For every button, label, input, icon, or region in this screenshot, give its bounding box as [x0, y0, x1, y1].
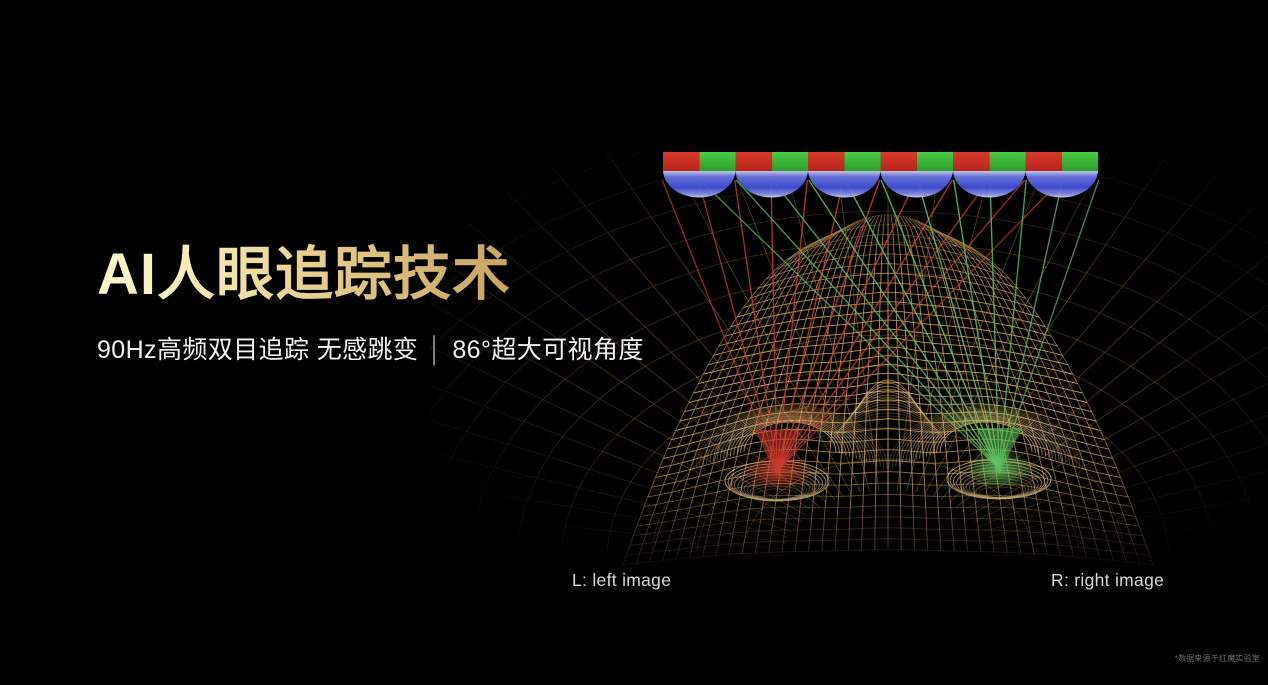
- legend-right-image: R: right image: [1051, 570, 1164, 591]
- subtitle-spec-refresh: 90Hz高频双目追踪 无感跳变: [97, 336, 418, 364]
- page-title: AI人眼追踪技术: [97, 243, 637, 308]
- subtitle-spec-angle: 86°超大可视角度: [452, 336, 643, 364]
- legend-left-image: L: left image: [572, 570, 671, 591]
- headline-block: AI人眼追踪技术 90Hz高频双目追踪 无感跳变│86°超大可视角度: [97, 243, 637, 366]
- footnote-disclaimer: *数据来源于红魔实验室: [1175, 653, 1260, 664]
- page-subtitle: 90Hz高频双目追踪 无感跳变│86°超大可视角度: [97, 308, 637, 366]
- subtitle-separator: │: [418, 336, 452, 364]
- slide-canvas: AI人眼追踪技术 90Hz高频双目追踪 无感跳变│86°超大可视角度 L: le…: [0, 0, 1268, 685]
